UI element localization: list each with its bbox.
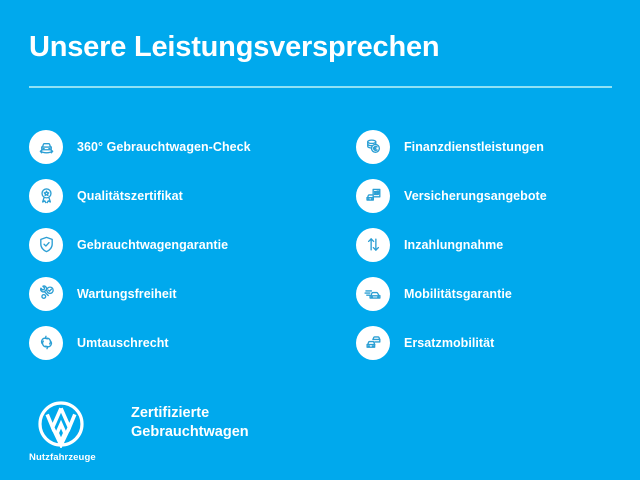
feature-label: Inzahlungnahme: [404, 238, 503, 252]
feature-item-inzahlungnahme[interactable]: Inzahlungnahme: [356, 220, 640, 269]
brand-headline-line1: Zertifizierte: [131, 404, 249, 423]
features-column-left: 360° Gebrauchtwagen-Check Qualitätszerti…: [29, 122, 329, 367]
feature-item-mobilitaetsgarantie[interactable]: Mobilitätsgarantie: [356, 269, 640, 318]
feature-label: Gebrauchtwagengarantie: [77, 238, 228, 252]
car-360-check-icon: [29, 130, 63, 164]
slide-root: Unsere Leistungsversprechen 360° Gebrauc…: [0, 0, 640, 480]
feature-label: Finanzdienstleistungen: [404, 140, 544, 154]
title-divider: [29, 86, 612, 88]
feature-label: Mobilitätsgarantie: [404, 287, 512, 301]
feature-item-ersatzmobilitaet[interactable]: Ersatzmobilität: [356, 318, 640, 367]
feature-item-gebrauchtwagengarantie[interactable]: Gebrauchtwagengarantie: [29, 220, 329, 269]
feature-item-qualitaetszertifikat[interactable]: Qualitätszertifikat: [29, 171, 329, 220]
brand-mark: Nutzfahrzeuge: [29, 398, 93, 463]
header: Unsere Leistungsversprechen: [29, 30, 613, 64]
car-document-icon: [356, 179, 390, 213]
brand-logo-subtitle: Nutzfahrzeuge: [29, 452, 93, 463]
feature-item-finanzdienstleistungen[interactable]: Finanzdienstleistungen: [356, 122, 640, 171]
wrench-check-icon: [29, 277, 63, 311]
features-grid: 360° Gebrauchtwagen-Check Qualitätszerti…: [0, 122, 640, 367]
up-down-arrows-icon: [356, 228, 390, 262]
feature-label: Qualitätszertifikat: [77, 189, 183, 203]
feature-label: Wartungsfreiheit: [77, 287, 177, 301]
feature-item-wartungsfreiheit[interactable]: Wartungsfreiheit: [29, 269, 329, 318]
feature-label: Umtauschrecht: [77, 336, 169, 350]
brand-lockup: Nutzfahrzeuge Zertifizierte Gebrauchtwag…: [29, 398, 249, 463]
page-title: Unsere Leistungsversprechen: [29, 30, 613, 64]
feature-label: Ersatzmobilität: [404, 336, 494, 350]
euro-coins-icon: [356, 130, 390, 164]
award-rosette-icon: [29, 179, 63, 213]
feature-item-versicherungsangebote[interactable]: Versicherungsangebote: [356, 171, 640, 220]
brand-headline-line2: Gebrauchtwagen: [131, 423, 249, 442]
two-cars-icon: [356, 326, 390, 360]
exchange-arrows-icon: [29, 326, 63, 360]
feature-label: 360° Gebrauchtwagen-Check: [77, 140, 251, 154]
volkswagen-logo: [37, 400, 85, 448]
feature-item-umtauschrecht[interactable]: Umtauschrecht: [29, 318, 329, 367]
car-motion-icon: [356, 277, 390, 311]
features-column-right: Finanzdienstleistungen Versicherungsange…: [356, 122, 640, 367]
brand-headline: Zertifizierte Gebrauchtwagen: [131, 398, 249, 442]
feature-label: Versicherungsangebote: [404, 189, 547, 203]
feature-item-gebrauchtwagen-check[interactable]: 360° Gebrauchtwagen-Check: [29, 122, 329, 171]
shield-check-icon: [29, 228, 63, 262]
